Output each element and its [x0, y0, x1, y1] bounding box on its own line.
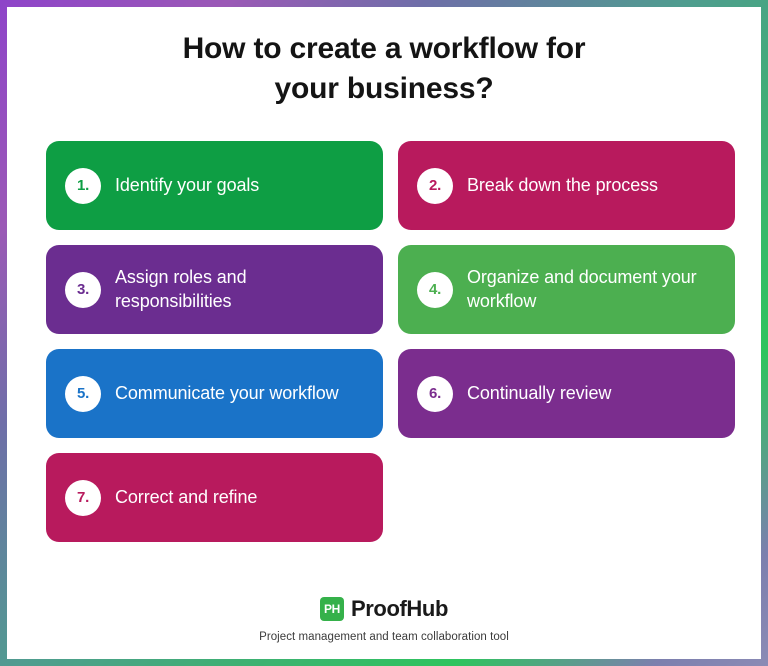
steps-list: 1.Identify your goals2.Break down the pr…	[46, 141, 736, 542]
page-title-line-2: your business?	[7, 69, 761, 109]
step-card[interactable]: 2.Break down the process	[398, 141, 735, 230]
page-title: How to create a workflow for your busine…	[7, 29, 761, 108]
infographic-frame: How to create a workflow for your busine…	[0, 0, 768, 666]
footer: PH ProofHub Project management and team …	[7, 596, 761, 643]
step-card[interactable]: 4.Organize and document your workflow	[398, 245, 735, 334]
step-label: Organize and document your workflow	[467, 266, 719, 312]
brand-lockup: PH ProofHub	[7, 596, 761, 622]
step-number-badge: 3.	[65, 272, 101, 308]
step-card[interactable]: 6.Continually review	[398, 349, 735, 438]
brand-tagline: Project management and team collaboratio…	[7, 631, 761, 643]
step-card[interactable]: 3.Assign roles and responsibilities	[46, 245, 383, 334]
page-title-line-1: How to create a workflow for	[7, 29, 761, 69]
step-label: Assign roles and responsibilities	[115, 266, 367, 312]
step-number-badge: 4.	[417, 272, 453, 308]
step-number-badge: 6.	[417, 376, 453, 412]
brand-name: ProofHub	[351, 596, 448, 622]
step-number-badge: 7.	[65, 480, 101, 516]
step-number-badge: 5.	[65, 376, 101, 412]
step-label: Break down the process	[467, 174, 658, 197]
step-label: Continually review	[467, 382, 611, 405]
step-number-badge: 2.	[417, 168, 453, 204]
step-label: Identify your goals	[115, 174, 259, 197]
step-label: Communicate your workflow	[115, 382, 339, 405]
step-card[interactable]: 5.Communicate your workflow	[46, 349, 383, 438]
step-card[interactable]: 7.Correct and refine	[46, 453, 383, 542]
step-number-badge: 1.	[65, 168, 101, 204]
proofhub-logo-icon: PH	[320, 597, 344, 621]
step-card[interactable]: 1.Identify your goals	[46, 141, 383, 230]
step-label: Correct and refine	[115, 486, 257, 509]
infographic-canvas: How to create a workflow for your busine…	[7, 7, 761, 659]
